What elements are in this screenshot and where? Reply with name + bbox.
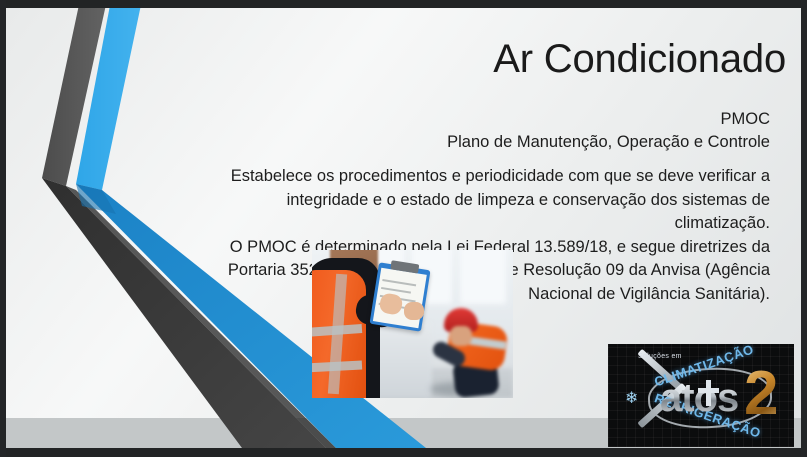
logo-brand-name: atos xyxy=(660,376,738,421)
presentation-slide: Ar Condicionado PMOC Plano de Manutenção… xyxy=(0,0,807,457)
subtitle-line-full: Plano de Manutenção, Operação e Controle xyxy=(196,131,770,154)
page-title: Ar Condicionado xyxy=(336,37,786,82)
slide-frame-right xyxy=(801,0,807,457)
body-line-2: integridade e o estado de limpeza e cons… xyxy=(196,189,770,236)
photo-background-worker xyxy=(424,302,510,398)
logo-brand-number: 2 xyxy=(744,358,778,429)
body-line-1: Estabelece os procedimentos e periodicid… xyxy=(196,165,770,189)
logo-cross-icon xyxy=(706,380,711,406)
subtitle-line-pmoc: PMOC xyxy=(196,108,770,131)
slide-frame-left xyxy=(0,0,6,457)
snowflake-icon: ❄ xyxy=(625,388,638,408)
logo-tagline: Soluções em xyxy=(638,353,682,360)
company-logo: ❄ Soluções em CLIMATIZAÇÃO REFRIGERAÇÃO … xyxy=(608,344,794,447)
slide-frame-top xyxy=(0,0,807,8)
slide-frame-bottom xyxy=(0,448,807,457)
photo-window xyxy=(460,250,506,304)
inspection-photo xyxy=(312,250,513,398)
subtitle-block: PMOC Plano de Manutenção, Operação e Con… xyxy=(196,108,770,154)
